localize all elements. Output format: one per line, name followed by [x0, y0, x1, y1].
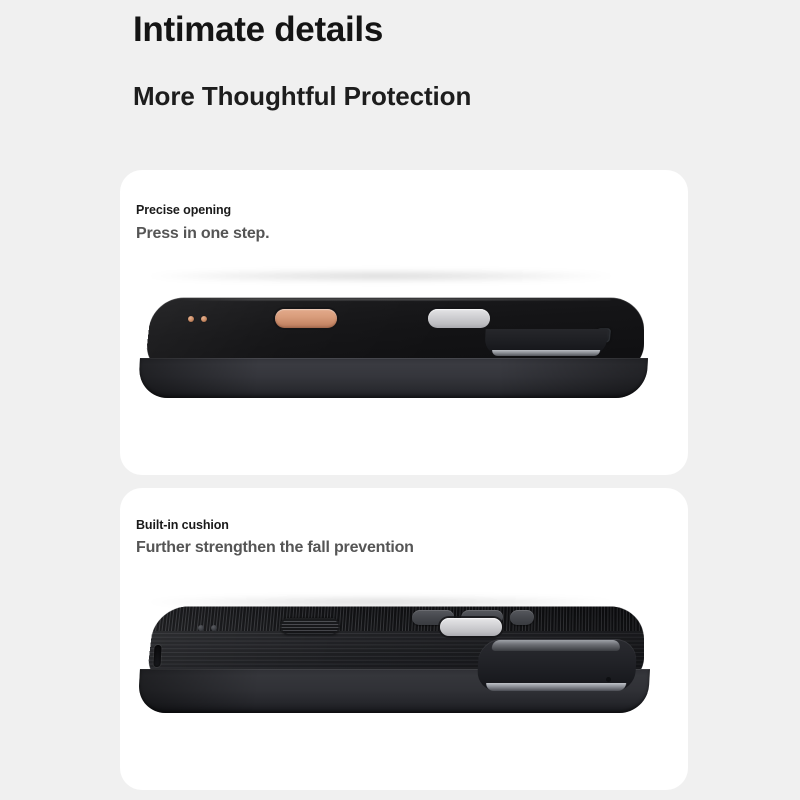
phone-case-bottom-edge-illustration	[140, 295, 660, 415]
feature-card-built-in-cushion: Built-in cushion Further strengthen the …	[120, 488, 688, 790]
silver-button	[440, 618, 502, 636]
face-top-edge-highlight	[178, 299, 611, 301]
camera-bump-ring	[492, 350, 600, 356]
product-detail-page: Intimate details More Thoughtful Protect…	[0, 0, 800, 800]
screw-dots	[188, 316, 207, 322]
screw-dots	[198, 625, 217, 631]
speaker-grille	[280, 618, 340, 635]
case-bottom-rail	[138, 358, 648, 398]
camera-bump-ring	[486, 683, 626, 691]
screw-dot-icon	[188, 316, 194, 322]
screw-dot-icon	[211, 625, 217, 631]
page-title: Intimate details	[133, 8, 733, 52]
camera-bump-lip	[492, 640, 621, 651]
copper-button	[275, 309, 337, 328]
page-heading-block: Intimate details More Thoughtful Protect…	[133, 8, 733, 113]
lens-dot-icon	[606, 677, 611, 682]
silver-button	[428, 309, 490, 328]
cushion-pad	[510, 610, 535, 625]
phone-case-image-1	[120, 170, 688, 475]
side-cutout-slot	[153, 645, 161, 667]
feature-card-precise-opening: Precise opening Press in one step.	[120, 170, 688, 475]
phone-case-image-2	[120, 488, 688, 790]
drop-shadow	[146, 270, 616, 282]
screw-dot-icon	[201, 316, 207, 322]
page-subtitle: More Thoughtful Protection	[133, 79, 733, 113]
screw-dot-icon	[198, 625, 204, 631]
phone-case-inner-cushion-illustration	[140, 603, 660, 748]
